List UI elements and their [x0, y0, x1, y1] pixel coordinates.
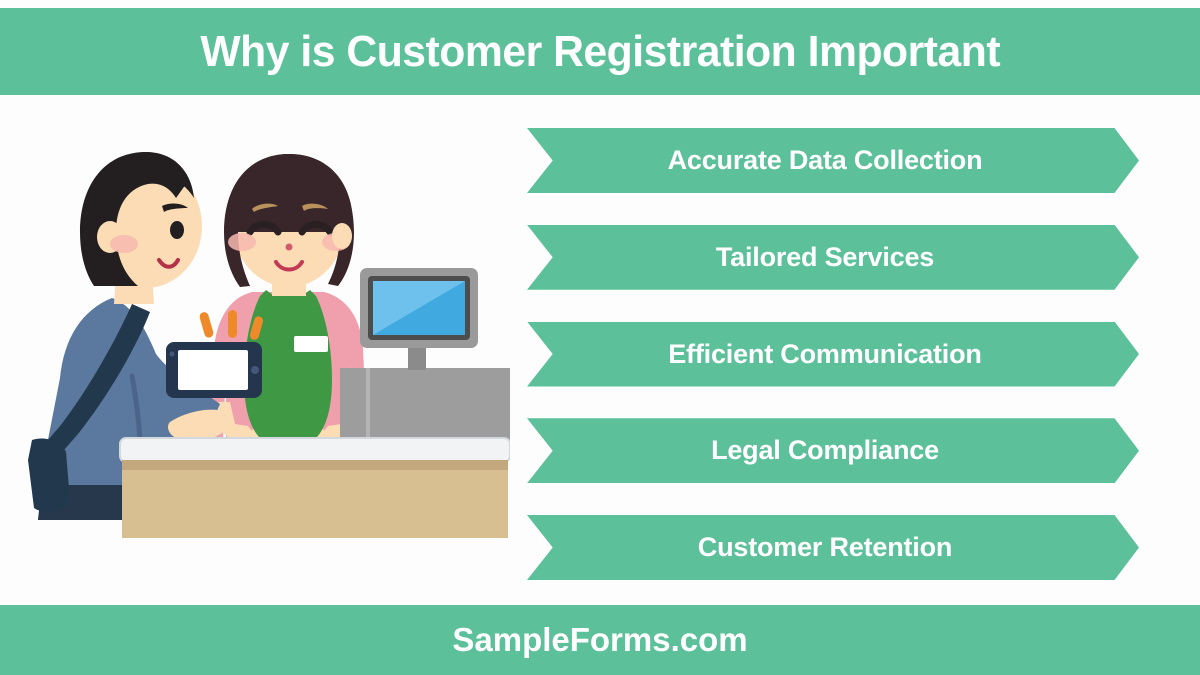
smartphone	[166, 342, 262, 398]
checkout-counter-illustration	[20, 140, 510, 590]
benefits-chevron-list: Accurate Data Collection Tailored Servic…	[527, 128, 1139, 580]
customer-eye	[170, 221, 184, 239]
chevron-item-3[interactable]: Efficient Communication	[527, 322, 1139, 387]
chevron-item-4-label: Legal Compliance	[711, 435, 939, 466]
chevron-item-5-label: Customer Retention	[698, 532, 952, 563]
chevron-item-5[interactable]: Customer Retention	[527, 515, 1139, 580]
register-unit	[340, 268, 510, 456]
cashier-name-tag	[294, 336, 328, 352]
page-title: Why is Customer Registration Important	[200, 30, 1000, 74]
phone-screen	[178, 350, 248, 390]
customer-bag	[28, 439, 70, 513]
customer-blush	[110, 235, 138, 253]
chevron-item-2-label: Tailored Services	[716, 242, 934, 273]
emphasis-mark-1	[199, 311, 215, 338]
cashier-ear	[332, 223, 352, 249]
chevron-item-1-label: Accurate Data Collection	[668, 145, 983, 176]
site-branding: SampleForms.com	[452, 621, 747, 659]
chevron-item-4[interactable]: Legal Compliance	[527, 418, 1139, 483]
service-counter	[120, 438, 510, 538]
chevron-item-2[interactable]: Tailored Services	[527, 225, 1139, 290]
chevron-item-3-label: Efficient Communication	[668, 339, 981, 370]
phone-home-button	[251, 366, 259, 374]
counter-top	[120, 438, 510, 462]
header-banner: Why is Customer Registration Important	[0, 8, 1200, 95]
cashier-nose	[286, 244, 293, 251]
phone-camera	[170, 352, 175, 357]
footer-banner: SampleForms.com	[0, 605, 1200, 675]
counter-front	[122, 470, 508, 538]
emphasis-mark-2	[228, 310, 237, 338]
cashier-blush-left	[228, 233, 256, 251]
chevron-item-1[interactable]: Accurate Data Collection	[527, 128, 1139, 193]
